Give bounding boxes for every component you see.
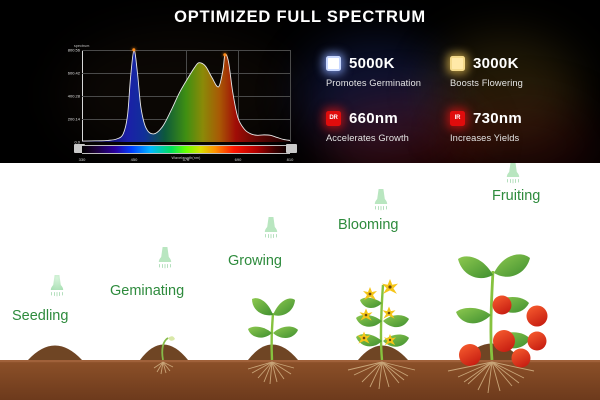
flowers-blooming — [358, 279, 399, 345]
spectrum-bar-cap-right — [286, 144, 297, 153]
grow-light-cone-icon-blooming — [368, 187, 394, 213]
dr-red-badge-icon: DR — [326, 111, 341, 126]
stage-label-geminating: Geminating — [110, 283, 184, 299]
legend-value: 3000K — [473, 55, 519, 72]
grow-light-cone-icon-seedling — [44, 273, 70, 299]
legend-item-5000k[interactable]: 5000K Promotes Germination — [326, 52, 454, 88]
stage-label-seedling: Seedling — [12, 308, 68, 324]
legend-value: 5000K — [349, 55, 395, 72]
legend-value: 730nm — [473, 110, 522, 127]
legend-description: Promotes Germination — [326, 78, 454, 88]
stage-label-growing: Growing — [228, 253, 282, 269]
legend-description: Increases Yields — [450, 133, 578, 143]
stage-label-fruiting: Fruiting — [492, 188, 540, 204]
soil-mound-seedling — [28, 346, 82, 361]
ir-red-badge-icon: IR — [450, 111, 465, 126]
grow-light-cone-icon-geminating — [152, 245, 178, 271]
page-title: OPTIMIZED FULL SPECTRUM — [0, 8, 600, 27]
y-tick-label: 800.56 — [68, 48, 80, 53]
spectrum-legend: 5000K Promotes Germination 3000K Boosts … — [326, 52, 582, 156]
y-tick-label: 400.28 — [68, 94, 80, 99]
grow-light-cone-icon-fruiting — [500, 163, 526, 186]
legend-value: 660nm — [349, 110, 398, 127]
amber-square-swatch-icon — [450, 56, 465, 71]
spectrum-curve — [82, 50, 290, 142]
legend-description: Accelerates Growth — [326, 133, 454, 143]
y-tick-label: 600.42 — [68, 71, 80, 76]
legend-description: Boosts Flowering — [450, 78, 578, 88]
infographic-root: OPTIMIZED FULL SPECTRUM spectrum 0.0200.… — [0, 0, 600, 400]
gridline-v — [290, 50, 291, 142]
spectrum-chart: spectrum 0.0200.14400.28600.42800.56 330… — [60, 44, 292, 162]
legend-item-660nm[interactable]: DR 660nm Accelerates Growth — [326, 107, 454, 143]
spectrum-panel: OPTIMIZED FULL SPECTRUM spectrum 0.0200.… — [0, 0, 600, 163]
growth-stages-scene: Seedling Geminating Growing Blooming Fru… — [0, 163, 600, 400]
chart-plot-area: 0.0200.14400.28600.42800.56 330450570690… — [82, 50, 290, 142]
grow-light-cone-icon-growing — [258, 215, 284, 241]
legend-item-3000k[interactable]: 3000K Boosts Flowering — [450, 52, 578, 88]
y-tick-label: 200.14 — [68, 117, 80, 122]
legend-item-730nm[interactable]: IR 730nm Increases Yields — [450, 107, 578, 143]
white-square-swatch-icon — [326, 56, 341, 71]
chart-x-axis-title: Wavelength(nm) — [82, 156, 290, 160]
stage-label-blooming: Blooming — [338, 217, 398, 233]
soil-surface — [0, 360, 600, 362]
soil-mound-geminating — [140, 345, 188, 361]
visible-spectrum-bar — [82, 145, 290, 154]
